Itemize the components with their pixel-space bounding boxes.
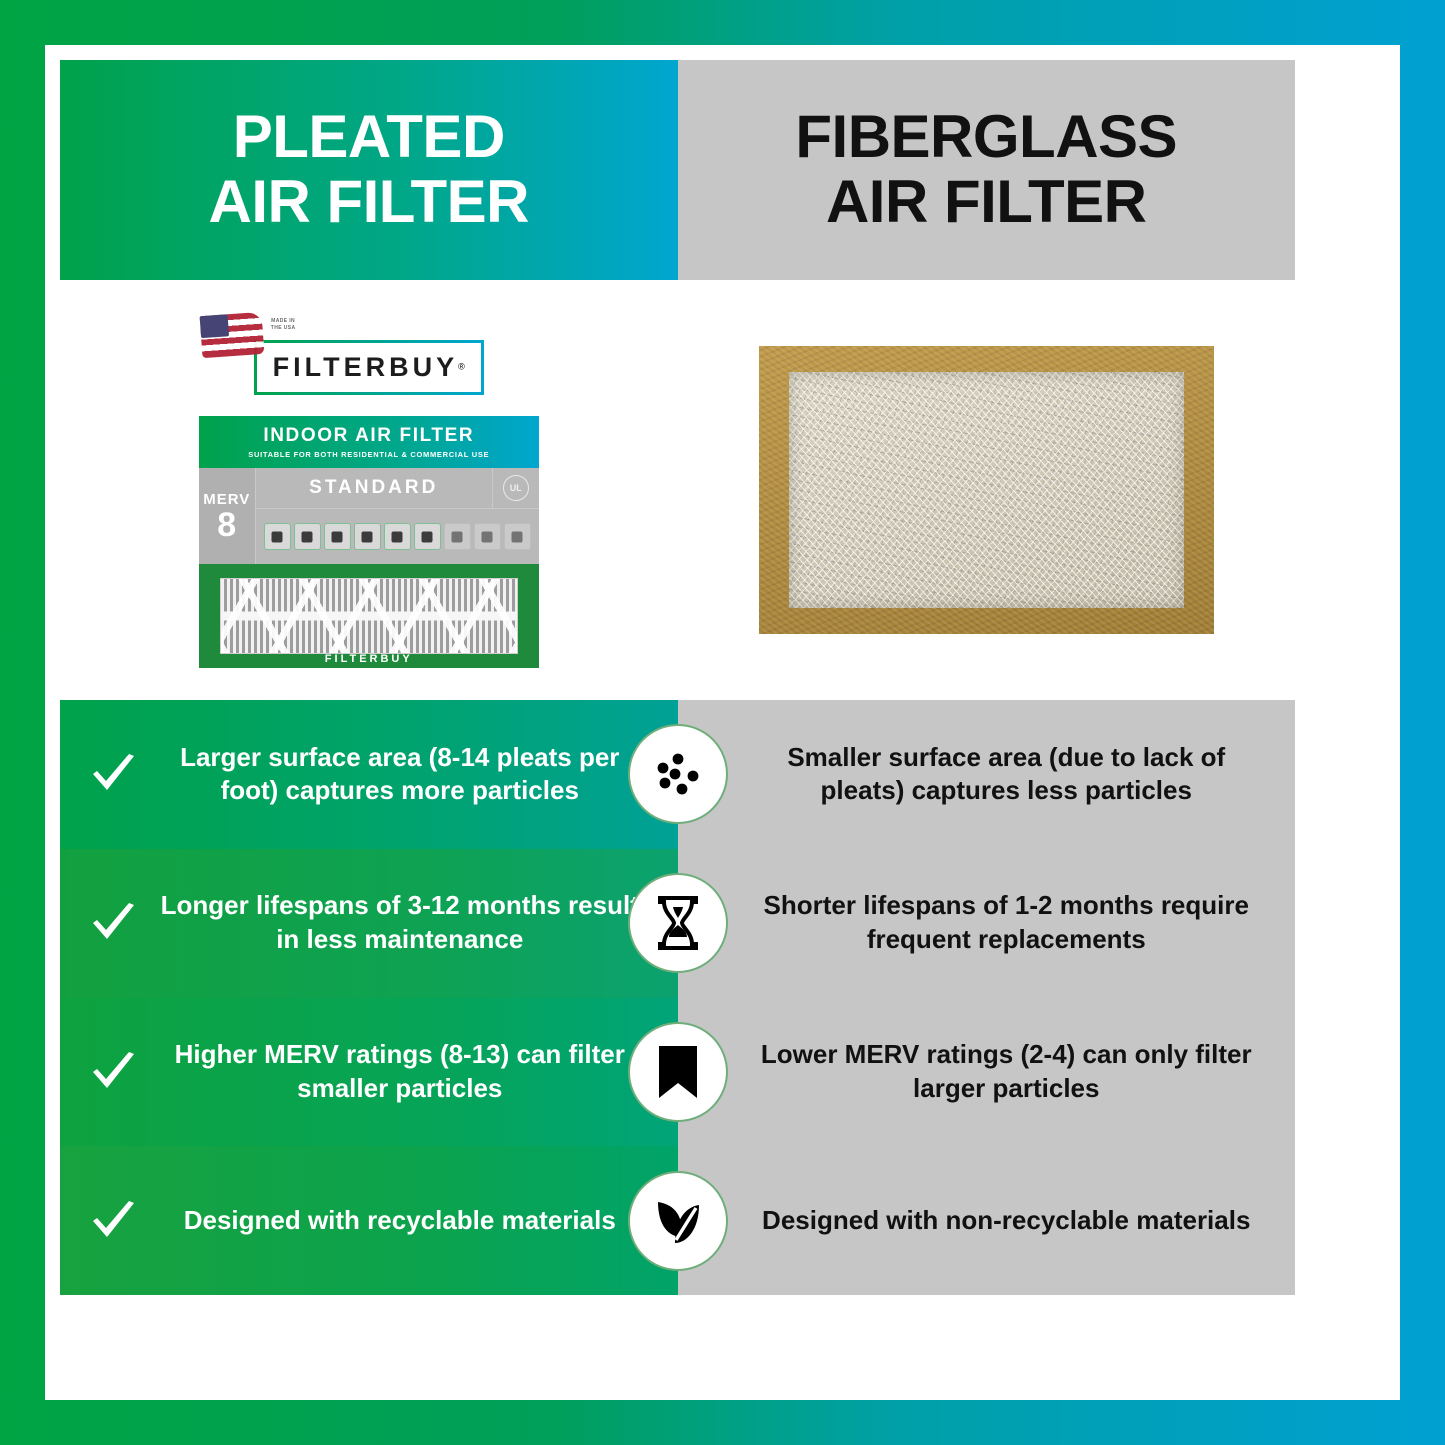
dustmite-icon xyxy=(384,523,411,550)
comparison-left-text: Larger surface area (8-14 pleats per foo… xyxy=(156,741,644,809)
bacteria-icon xyxy=(474,523,501,550)
header-fiberglass-line2: AIR FILTER xyxy=(826,168,1147,235)
check-icon xyxy=(84,1046,142,1098)
header-pleated: PLEATED AIR FILTER xyxy=(60,60,678,280)
header-row: PLEATED AIR FILTER FIBERGLASS AIR FILTER xyxy=(60,60,1295,280)
lint-icon xyxy=(294,523,321,550)
comparison-row: Higher MERV ratings (8-13) can filter sm… xyxy=(60,998,1295,1147)
comparison-row: Larger surface area (8-14 pleats per foo… xyxy=(60,700,1295,849)
dust-icon xyxy=(264,523,291,550)
comparison-table: Larger surface area (8-14 pleats per foo… xyxy=(60,700,1295,1295)
comparison-row: Longer lifespans of 3-12 months result i… xyxy=(60,849,1295,998)
header-fiberglass-line1: FIBERGLASS xyxy=(795,103,1177,170)
brand-logo-box: FILTERBUY® xyxy=(254,340,484,395)
header-fiberglass: FIBERGLASS AIR FILTER xyxy=(678,60,1296,280)
merv-rating-block: MERV 8 xyxy=(199,468,256,564)
header-pleated-line1: PLEATED xyxy=(233,103,505,170)
comparison-row-right: Lower MERV ratings (2-4) can only filter… xyxy=(678,998,1296,1147)
fiberglass-filter-photo xyxy=(759,346,1214,634)
comparison-right-text: Smaller surface area (due to lack of ple… xyxy=(748,741,1266,809)
fiberglass-product-cell xyxy=(678,280,1296,700)
comparison-left-text: Higher MERV ratings (8-13) can filter sm… xyxy=(156,1038,644,1106)
grade-label: STANDARD xyxy=(256,477,492,499)
comparison-right-text: Lower MERV ratings (2-4) can only filter… xyxy=(748,1038,1266,1106)
check-icon xyxy=(84,748,142,800)
pet-dander-icon xyxy=(414,523,441,550)
package-footer-brand: FILTERBUY xyxy=(199,653,539,665)
smoke-icon xyxy=(444,523,471,550)
virus-icon xyxy=(504,523,531,550)
comparison-row-right: Designed with non-recyclable materials xyxy=(678,1146,1296,1295)
comparison-row-right: Smaller surface area (due to lack of ple… xyxy=(678,700,1296,849)
trademark-symbol: ® xyxy=(458,361,465,371)
package-pleat-window: FILTERBUY xyxy=(199,564,539,668)
merv-label: MERV xyxy=(203,491,250,508)
pleated-filter-package: MADE IN THE USA FILTERBUY® INDOOR AIR FI… xyxy=(199,312,539,668)
leaf-icon xyxy=(628,1171,728,1271)
hourglass-icon xyxy=(628,873,728,973)
comparison-row-right: Shorter lifespans of 1-2 months require … xyxy=(678,849,1296,998)
package-top-section: MADE IN THE USA FILTERBUY® xyxy=(199,312,539,416)
comparison-left-text: Longer lifespans of 3-12 months result i… xyxy=(156,889,644,957)
mold-icon xyxy=(354,523,381,550)
product-image-row: MADE IN THE USA FILTERBUY® INDOOR AIR FI… xyxy=(60,280,1295,700)
ul-badge-text: UL xyxy=(503,475,529,501)
particles-icon xyxy=(628,724,728,824)
package-spec-section: MERV 8 STANDARD UL xyxy=(199,468,539,564)
comparison-row: Designed with recyclable materials Desig… xyxy=(60,1146,1295,1295)
comparison-left-text: Designed with recyclable materials xyxy=(156,1204,644,1238)
pleated-media-graphic xyxy=(220,578,518,654)
comparison-row-left: Larger surface area (8-14 pleats per foo… xyxy=(60,700,678,849)
check-icon xyxy=(84,1195,142,1247)
merv-value: 8 xyxy=(217,508,236,542)
usa-flag-icon xyxy=(199,312,264,358)
pleated-product-cell: MADE IN THE USA FILTERBUY® INDOOR AIR FI… xyxy=(60,280,678,700)
fiberglass-mesh xyxy=(789,372,1184,608)
package-product-band: INDOOR AIR FILTER SUITABLE FOR BOTH RESI… xyxy=(199,416,539,468)
header-pleated-line2: AIR FILTER xyxy=(208,168,529,235)
filtration-icon-row xyxy=(256,509,539,564)
package-band-subtitle: SUITABLE FOR BOTH RESIDENTIAL & COMMERCI… xyxy=(248,450,489,459)
comparison-row-left: Designed with recyclable materials xyxy=(60,1146,678,1295)
brand-name: FILTERBUY xyxy=(273,352,459,382)
comparison-right-text: Designed with non-recyclable materials xyxy=(748,1204,1266,1238)
pollen-icon xyxy=(324,523,351,550)
bookmark-icon xyxy=(628,1022,728,1122)
package-band-title: INDOOR AIR FILTER xyxy=(263,425,474,447)
comparison-row-left: Higher MERV ratings (8-13) can filter sm… xyxy=(60,998,678,1147)
made-in-usa-label: MADE IN THE USA xyxy=(271,318,296,333)
comparison-row-left: Longer lifespans of 3-12 months result i… xyxy=(60,849,678,998)
grade-row: STANDARD UL xyxy=(256,468,539,509)
package-spec-right: STANDARD UL xyxy=(256,468,539,564)
comparison-right-text: Shorter lifespans of 1-2 months require … xyxy=(748,889,1266,957)
ul-listed-badge: UL xyxy=(492,468,539,508)
check-icon xyxy=(84,897,142,949)
infographic-canvas: PLEATED AIR FILTER FIBERGLASS AIR FILTER… xyxy=(0,0,1445,1445)
